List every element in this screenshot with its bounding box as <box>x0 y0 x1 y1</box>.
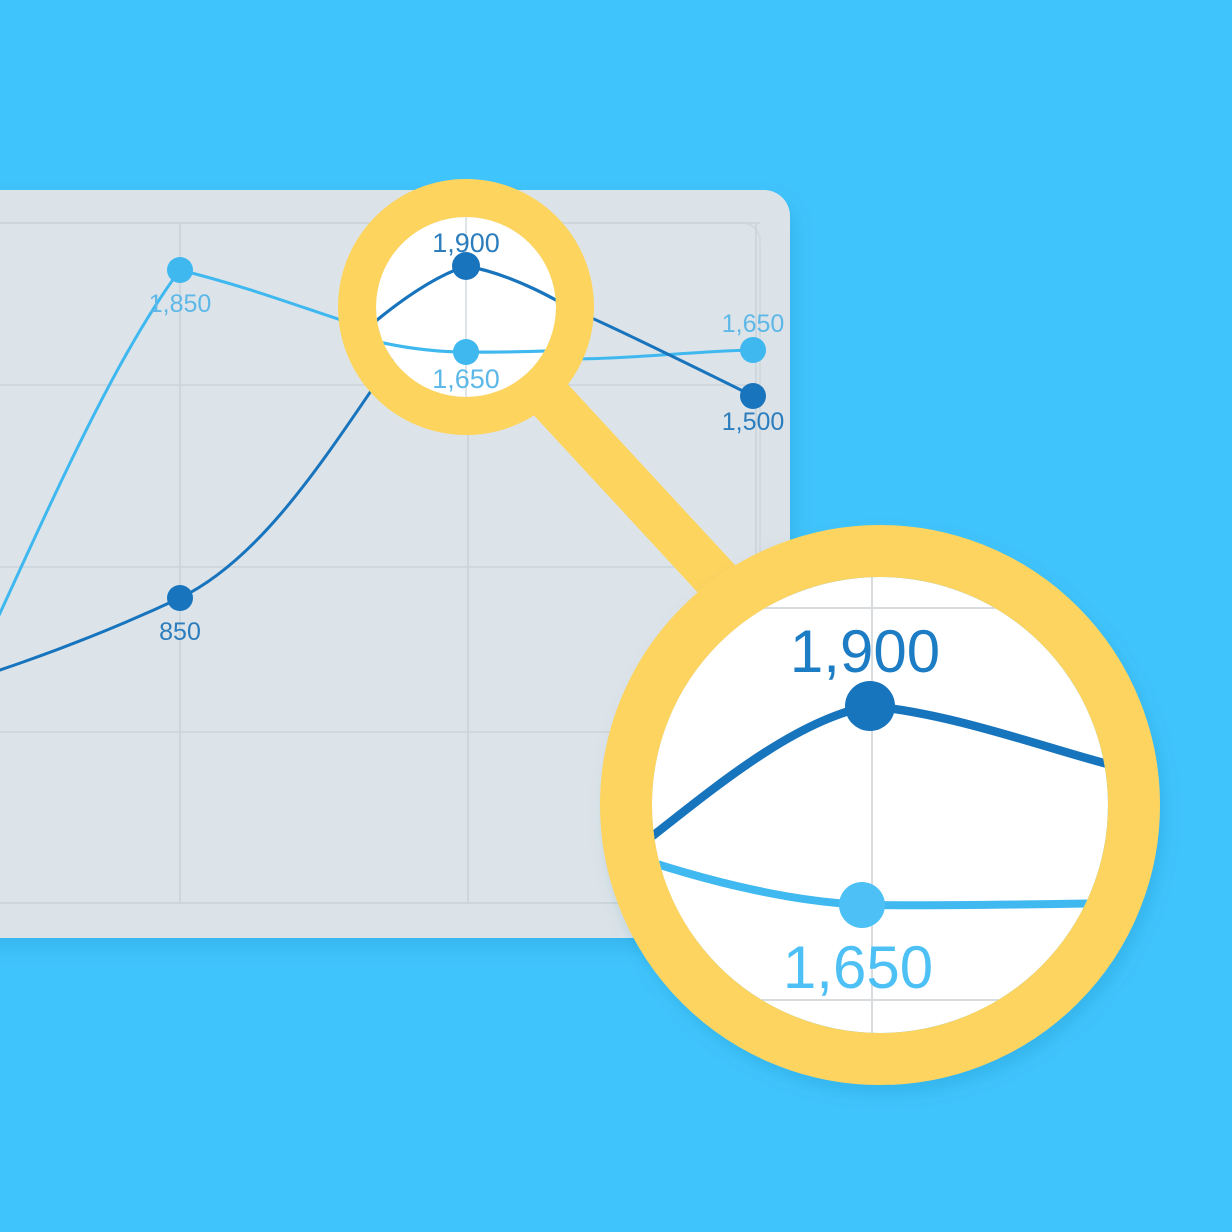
lens-large-label-primary: 1,900 <box>790 618 940 685</box>
datapoint-label-primary-p3: 1,500 <box>722 408 785 436</box>
lens-small-label-secondary: 1,650 <box>432 364 500 394</box>
datapoint-label-secondary-p1: 1,850 <box>149 290 212 318</box>
datapoint-label-secondary-p3: 1,650 <box>722 310 785 338</box>
magnifier-large[interactable]: 1,900 1,650 <box>626 551 1134 1059</box>
chart-scene: 1,850 850 1,650 1,500 <box>0 0 1232 1232</box>
datapoint-label-primary-p1: 850 <box>159 618 201 646</box>
lens-small-point-secondary[interactable] <box>453 339 479 365</box>
screenshot-stage: 1,850 850 1,650 1,500 <box>0 0 1232 1232</box>
lens-small-label-primary: 1,900 <box>432 228 500 258</box>
lens-large-label-secondary: 1,650 <box>783 934 933 1001</box>
lens-large-point-primary[interactable] <box>845 681 895 731</box>
lens-large-point-secondary[interactable] <box>839 882 885 928</box>
